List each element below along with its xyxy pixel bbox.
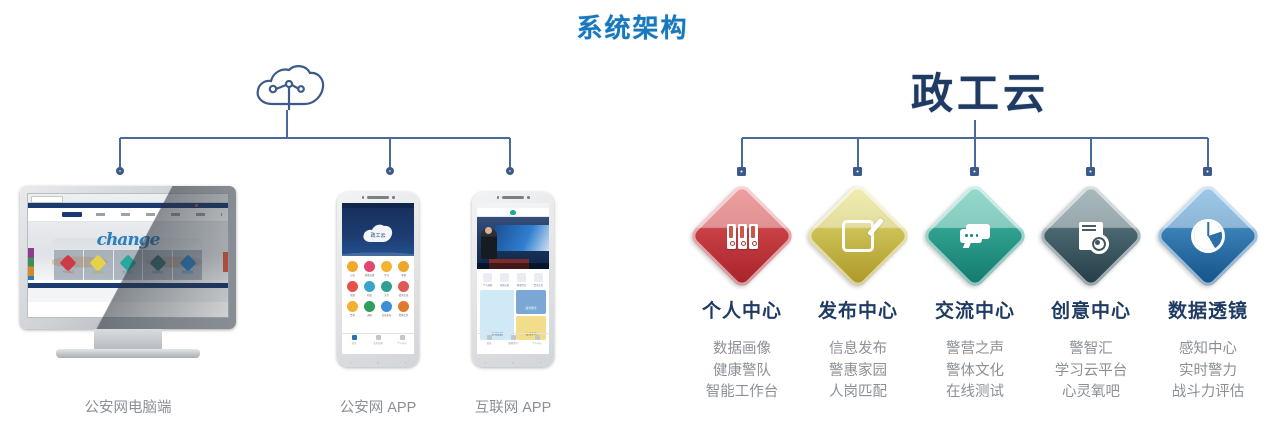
app-icon bbox=[398, 261, 409, 272]
app-icon bbox=[364, 301, 375, 312]
module-diamond bbox=[921, 182, 1028, 289]
photo-caption bbox=[477, 263, 549, 269]
binders-icon bbox=[704, 198, 780, 274]
hero-side-right bbox=[223, 252, 228, 272]
speaker-icon bbox=[502, 196, 524, 199]
phone-nav-bar: ‹○‹ bbox=[337, 360, 419, 365]
site-menu[interactable] bbox=[96, 213, 222, 216]
cloud-network-icon bbox=[258, 66, 323, 110]
grid-item[interactable]: 党建 bbox=[345, 281, 360, 297]
grid-label: 档案 bbox=[367, 293, 372, 297]
grid-item[interactable]: 警营 bbox=[345, 301, 360, 317]
module-subs: 警营之声 警体文化 在线测试 bbox=[920, 342, 1030, 400]
health-icon bbox=[517, 273, 526, 282]
grid-item[interactable]: 档案 bbox=[362, 281, 377, 297]
phone-earpiece bbox=[472, 196, 554, 199]
grid-label: 学习 bbox=[384, 273, 389, 277]
brand-title: 政工云 bbox=[860, 60, 1100, 121]
grid-label: 警营 bbox=[350, 313, 355, 317]
home-icon bbox=[352, 335, 357, 340]
grid-item[interactable]: 考勤 bbox=[396, 261, 411, 277]
module-sub-item[interactable]: 警惠家园 bbox=[803, 364, 913, 379]
home-circle-icon[interactable]: ○ bbox=[512, 360, 514, 365]
tile-diamond-icon bbox=[179, 254, 196, 271]
edit-pencil-icon bbox=[820, 198, 896, 274]
module-communication-center[interactable]: 交流中心 警营之声 警体文化 在线测试 bbox=[920, 198, 1030, 400]
tab-label: 图像资讯 bbox=[508, 341, 518, 345]
quick-label: 健康警队 bbox=[517, 283, 526, 287]
module-diamond bbox=[1037, 182, 1144, 289]
svg-text:政工云: 政工云 bbox=[370, 232, 385, 239]
quick-label: 警营文化 bbox=[534, 283, 543, 287]
module-diamond bbox=[1154, 182, 1261, 289]
tile-diamond-icon bbox=[149, 254, 166, 271]
grid-label: 文件 bbox=[384, 293, 389, 297]
person-head bbox=[485, 227, 492, 234]
app-tabbar: 首页 业务办理 个人中心 bbox=[342, 333, 414, 346]
tile-diamond-icon bbox=[119, 254, 136, 271]
app-icon bbox=[381, 281, 392, 292]
sensor-icon bbox=[392, 196, 395, 199]
grid-item[interactable]: 信息发布 bbox=[379, 301, 394, 317]
module-sub-item[interactable]: 心灵氧吧 bbox=[1036, 385, 1146, 400]
grid-label: 党建 bbox=[350, 293, 355, 297]
grid-label: 警体文化 bbox=[399, 313, 409, 317]
recent-icon[interactable]: ‹ bbox=[405, 360, 406, 365]
desktop-webpage: change 个人中心 发布中心 bbox=[28, 194, 228, 317]
module-sub-item[interactable]: 警体文化 bbox=[920, 364, 1030, 379]
module-sub-item[interactable]: 感知中心 bbox=[1153, 342, 1263, 357]
tab-home[interactable]: 首页 bbox=[477, 334, 501, 346]
app-header: 政工云 bbox=[342, 208, 414, 256]
module-sub-item[interactable]: 健康警队 bbox=[687, 364, 797, 379]
app-cloud-logo-icon: 政工云 bbox=[361, 222, 395, 246]
hero-tile[interactable]: 个人中心 bbox=[54, 250, 83, 280]
quick-icon-item[interactable]: 政策法规 bbox=[500, 273, 509, 287]
camera-icon bbox=[497, 196, 500, 199]
grid-item[interactable]: 政策法规 bbox=[362, 261, 377, 277]
grid-label: 信息发布 bbox=[382, 313, 392, 317]
module-diamond bbox=[804, 182, 911, 289]
app-logo-icon bbox=[510, 210, 516, 215]
person-icon bbox=[400, 335, 405, 340]
app-icon bbox=[398, 281, 409, 292]
back-icon[interactable]: ‹ bbox=[485, 360, 486, 365]
culture-icon bbox=[534, 273, 543, 282]
app-icon bbox=[364, 281, 375, 292]
hero-tile[interactable]: 数据透镜 bbox=[173, 250, 202, 280]
tab-label: 首页 bbox=[352, 341, 357, 345]
module-personal-center[interactable]: 个人中心 数据画像 健康警队 智能工作台 bbox=[687, 198, 797, 400]
module-sub-item[interactable]: 警营之声 bbox=[920, 342, 1030, 357]
grid-label: 考勤 bbox=[401, 273, 406, 277]
module-title: 个人中心 bbox=[687, 296, 797, 323]
grid-label: 政策法规 bbox=[365, 273, 375, 277]
grid-item[interactable]: 调研 bbox=[362, 301, 377, 317]
monitor-base bbox=[56, 349, 200, 358]
recent-icon[interactable]: ‹ bbox=[540, 360, 541, 365]
module-sub-item[interactable]: 数据画像 bbox=[687, 342, 797, 357]
grid-item[interactable]: 警体文化 bbox=[396, 301, 411, 317]
hero-text: change bbox=[28, 230, 228, 250]
hero-tile[interactable]: 交流中心 bbox=[114, 250, 143, 280]
app-icon bbox=[347, 261, 358, 272]
monitor-bezel: change 个人中心 发布中心 bbox=[20, 186, 236, 329]
module-title: 数据透镜 bbox=[1153, 296, 1263, 323]
policy-icon bbox=[500, 273, 509, 282]
home-circle-icon[interactable]: ○ bbox=[377, 360, 379, 365]
site-footer bbox=[28, 288, 228, 302]
app-icon bbox=[381, 261, 392, 272]
app-icon bbox=[364, 261, 375, 272]
site-nav bbox=[28, 208, 228, 222]
tile-label: 政务助手 bbox=[516, 306, 546, 310]
monitor-stand bbox=[94, 329, 162, 351]
quick-label: 政策法规 bbox=[500, 283, 509, 287]
home-icon bbox=[487, 335, 492, 340]
hero-tile[interactable]: 发布中心 bbox=[84, 250, 113, 280]
browser-tab[interactable] bbox=[31, 196, 63, 203]
back-icon[interactable]: ‹ bbox=[350, 360, 351, 365]
portrait-icon bbox=[483, 273, 492, 282]
news-icon bbox=[511, 335, 516, 340]
device-label-police-app: 公安网 APP bbox=[320, 396, 436, 417]
module-subs: 信息发布 警惠家园 人岗匹配 bbox=[803, 342, 913, 400]
police-app-screen: 政工云 公告 政策法规 学习 考勤 党建 档案 文件 政务信息 警营 调研 信息… bbox=[342, 203, 414, 354]
app-tabbar: 首页 图像资讯 个人中心 bbox=[477, 333, 549, 346]
speaker-icon bbox=[367, 196, 389, 199]
module-diamond bbox=[688, 182, 795, 289]
grid-label: 调研 bbox=[367, 313, 372, 317]
app-topbar bbox=[477, 208, 549, 217]
module-data-lens[interactable]: 数据透镜 感知中心 实时警力 战斗力评估 bbox=[1153, 198, 1263, 400]
app-icon bbox=[398, 301, 409, 312]
quick-icon-item[interactable]: 警营文化 bbox=[534, 273, 543, 287]
module-title: 创意中心 bbox=[1036, 296, 1146, 323]
pie-chart-icon bbox=[1170, 198, 1246, 274]
grid-item[interactable]: 文件 bbox=[379, 281, 394, 297]
site-logo bbox=[62, 212, 82, 217]
sensor-icon bbox=[527, 196, 530, 199]
app-icon bbox=[381, 301, 392, 312]
device-internet-app: 个人画像 政策法规 健康警队 警营文化 智慧政园 政务助手 在线学习 首页 图像… bbox=[472, 192, 554, 367]
module-creative-center[interactable]: 创意中心 警智汇 学习云平台 心灵氧吧 bbox=[1036, 198, 1146, 400]
business-icon bbox=[376, 335, 381, 340]
module-sub-item[interactable]: 战斗力评估 bbox=[1153, 385, 1263, 400]
news-photo[interactable] bbox=[477, 217, 549, 269]
hero-side-left bbox=[28, 248, 34, 280]
grid-label: 政务信息 bbox=[399, 293, 409, 297]
tab-label: 首页 bbox=[487, 341, 492, 345]
person-icon bbox=[535, 335, 540, 340]
hero-tiles: 个人中心 发布中心 交流中心 bbox=[54, 250, 202, 280]
module-sub-item[interactable]: 警智汇 bbox=[1036, 342, 1146, 357]
hero-banner: change 个人中心 发布中心 bbox=[28, 222, 228, 280]
tab-label: 个人中心 bbox=[397, 341, 407, 345]
grid-item[interactable]: 公告 bbox=[345, 261, 360, 277]
tab-label: 业务办理 bbox=[373, 341, 383, 345]
quick-label: 个人画像 bbox=[483, 283, 492, 287]
device-label-internet-app: 互联网 APP bbox=[455, 396, 571, 417]
module-title: 交流中心 bbox=[920, 296, 1030, 323]
tab-home[interactable]: 首页 bbox=[342, 334, 366, 346]
module-sub-item[interactable]: 学习云平台 bbox=[1036, 364, 1146, 379]
device-label-desktop: 公安网电脑端 bbox=[18, 396, 238, 417]
document-gear-icon bbox=[1053, 198, 1129, 274]
tab-news[interactable]: 图像资讯 bbox=[501, 334, 525, 346]
stage-screen bbox=[495, 225, 549, 251]
tab-label: 个人中心 bbox=[532, 341, 542, 345]
phone-nav-bar: ‹○‹ bbox=[472, 360, 554, 365]
app-icon-grid: 公告 政策法规 学习 考勤 党建 档案 文件 政务信息 警营 调研 信息发布 警… bbox=[342, 256, 414, 322]
module-subs: 感知中心 实时警力 战斗力评估 bbox=[1153, 342, 1263, 400]
module-publish-center[interactable]: 发布中心 信息发布 警惠家园 人岗匹配 bbox=[803, 198, 913, 400]
tab-profile[interactable]: 个人中心 bbox=[390, 334, 414, 346]
quick-icons: 个人画像 政策法规 健康警队 警营文化 bbox=[477, 269, 549, 290]
tile-diamond-icon bbox=[90, 254, 107, 271]
internet-app-screen: 个人画像 政策法规 健康警队 警营文化 智慧政园 政务助手 在线学习 首页 图像… bbox=[477, 203, 549, 354]
device-police-app: 政工云 公告 政策法规 学习 考勤 党建 档案 文件 政务信息 警营 调研 信息… bbox=[337, 192, 419, 367]
quick-icon-item[interactable]: 个人画像 bbox=[483, 273, 492, 287]
tab-business[interactable]: 业务办理 bbox=[366, 334, 390, 346]
module-sub-item[interactable]: 智能工作台 bbox=[687, 385, 797, 400]
camera-icon bbox=[362, 196, 365, 199]
module-sub-item[interactable]: 在线测试 bbox=[920, 385, 1030, 400]
grid-label: 公告 bbox=[350, 273, 355, 277]
tab-profile[interactable]: 个人中心 bbox=[525, 334, 549, 346]
browser-chrome bbox=[28, 194, 228, 203]
module-title: 发布中心 bbox=[803, 296, 913, 323]
feature-tile-secondary[interactable]: 政务助手 bbox=[516, 290, 546, 314]
app-icon bbox=[347, 281, 358, 292]
grid-item[interactable]: 学习 bbox=[379, 261, 394, 277]
phone-earpiece bbox=[337, 196, 419, 199]
page-title: 系统架构 bbox=[0, 8, 1265, 45]
grid-item[interactable]: 政务信息 bbox=[396, 281, 411, 297]
monitor-screen: change 个人中心 发布中心 bbox=[27, 193, 229, 318]
architecture-diagram: 系统架构 政工云 bbox=[0, 0, 1265, 439]
quick-icon-item[interactable]: 健康警队 bbox=[517, 273, 526, 287]
tile-diamond-icon bbox=[60, 254, 77, 271]
app-icon bbox=[347, 301, 358, 312]
notice-dot-icon bbox=[195, 204, 198, 207]
module-sub-item[interactable]: 实时警力 bbox=[1153, 364, 1263, 379]
chat-bubbles-icon bbox=[937, 198, 1013, 274]
module-subs: 数据画像 健康警队 智能工作台 bbox=[687, 342, 797, 400]
device-desktop: change 个人中心 发布中心 bbox=[8, 186, 248, 371]
module-sub-item[interactable]: 信息发布 bbox=[803, 342, 913, 357]
module-subs: 警智汇 学习云平台 心灵氧吧 bbox=[1036, 342, 1146, 400]
hero-tile[interactable]: 创意中心 bbox=[143, 250, 172, 280]
module-sub-item[interactable]: 人岗匹配 bbox=[803, 385, 913, 400]
